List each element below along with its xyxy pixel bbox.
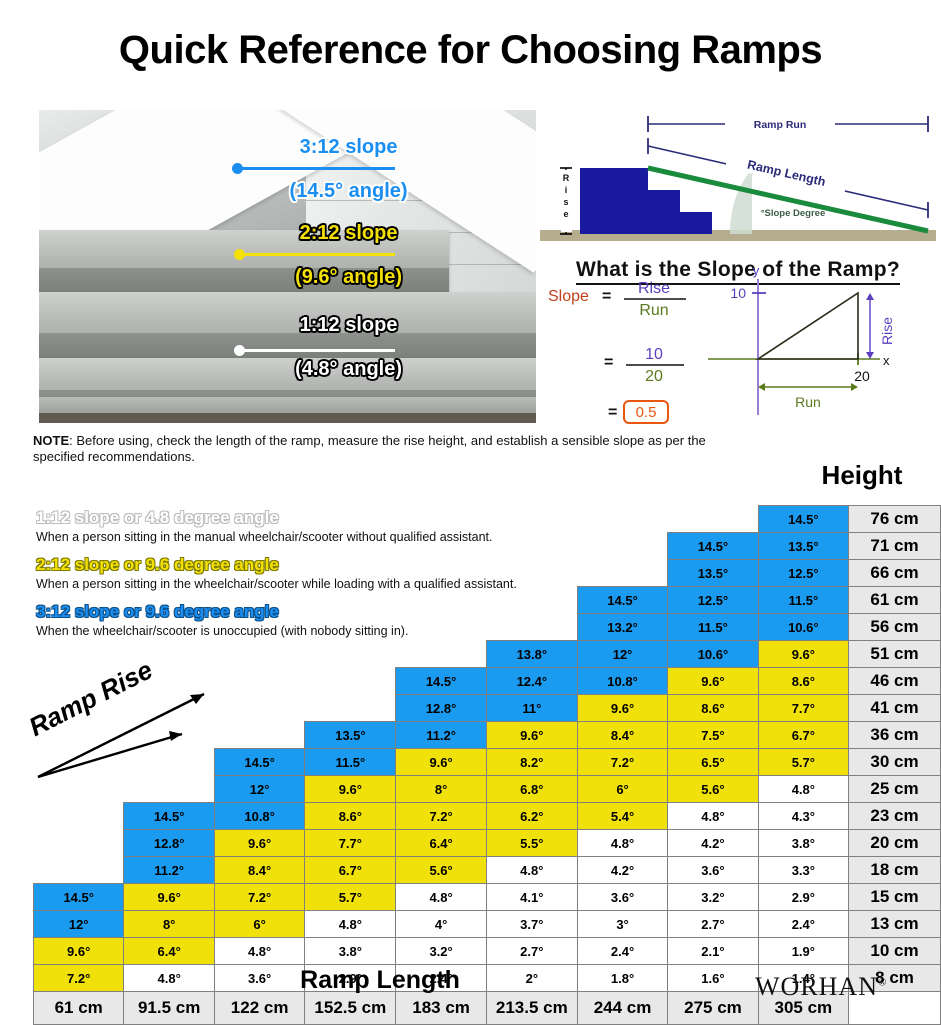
table-cell-angle[interactable]: 6.8° <box>486 776 577 803</box>
overlay-2-12-line2: (9.6° angle) <box>295 266 402 288</box>
height-axis-label: Height <box>807 460 917 491</box>
slope-word: Slope <box>548 288 589 305</box>
table-cell-angle[interactable]: 6° <box>577 776 667 803</box>
graph-x-tick-label: 20 <box>854 368 870 384</box>
table-row-height: 56 cm <box>849 614 941 641</box>
table-cell-empty <box>34 857 124 884</box>
table-cell-angle[interactable]: 10.6° <box>758 614 848 641</box>
table-cell-angle[interactable]: 11.5° <box>668 614 758 641</box>
table-row: 9.6°6.4°4.8°3.8°3.2°2.7°2.4°2.1°1.9°10 c… <box>34 938 941 965</box>
table-cell-angle[interactable]: 5.7° <box>305 884 396 911</box>
slope-equals-3: = <box>608 404 617 421</box>
ramp-diagram: Ramp Run Ramp Length °Slope Degree R i s… <box>540 112 936 242</box>
legend-desc-3-12: When the wheelchair/scooter is unoccupie… <box>36 623 636 639</box>
slope-formula-diagram: Slope = Rise Run = 10 20 = 0.5 y x 10 20… <box>540 255 936 430</box>
table-cell-angle[interactable]: 10.8° <box>577 668 667 695</box>
graph-rise-label: Rise <box>879 317 895 345</box>
table-cell-angle[interactable]: 7.7° <box>758 695 848 722</box>
worhan-name: WORHAN <box>755 972 878 1001</box>
worhan-logo: WORHAN® <box>755 972 887 1002</box>
table-cell-angle[interactable]: 12.5° <box>668 587 758 614</box>
worhan-registered-mark: ® <box>878 976 887 988</box>
table-cell-angle[interactable]: 11.2° <box>124 857 215 884</box>
overlay-2-12-line1: 2:12 slope <box>300 222 398 244</box>
table-cell-angle[interactable]: 11.5° <box>305 749 396 776</box>
table-row-height: 15 cm <box>849 884 941 911</box>
table-cell-angle[interactable]: 3.6° <box>577 884 667 911</box>
note-text: NOTE: Before using, check the length of … <box>33 433 723 465</box>
table-cell-angle[interactable]: 9.6° <box>34 938 124 965</box>
table-column-length: 275 cm <box>668 992 758 1025</box>
graph-y-axis-label: y <box>753 263 760 278</box>
table-row-height: 76 cm <box>849 506 941 533</box>
table-cell-angle[interactable]: 8.4° <box>577 722 667 749</box>
table-column-length: 213.5 cm <box>486 992 577 1025</box>
table-cell-angle[interactable]: 7.2° <box>577 749 667 776</box>
table-row-height: 10 cm <box>849 938 941 965</box>
ramp-length-label: Ramp Length <box>746 157 827 189</box>
overlay-slope-2-12: 2:12 slope (9.6° angle) <box>218 200 468 288</box>
table-cell-angle[interactable]: 14.5° <box>34 884 124 911</box>
table-cell-angle[interactable]: 8° <box>124 911 215 938</box>
graph-y-tick-label: 10 <box>730 285 746 301</box>
table-cell-angle[interactable]: 8° <box>396 776 486 803</box>
table-cell-angle[interactable]: 1.9° <box>758 938 848 965</box>
rise-label-letter-r: R <box>563 173 570 183</box>
table-cell-angle[interactable]: 4.8° <box>396 884 486 911</box>
table-cell-angle[interactable]: 7.7° <box>305 830 396 857</box>
table-cell-angle[interactable]: 4° <box>396 911 486 938</box>
table-cell-angle[interactable]: 5.5° <box>486 830 577 857</box>
ramp-length-axis-label: Ramp Length <box>0 966 760 995</box>
table-cell-angle[interactable]: 4.8° <box>486 857 577 884</box>
table-row-height: 71 cm <box>849 533 941 560</box>
table-cell-angle[interactable]: 7.2° <box>214 884 304 911</box>
slope-result-value: 0.5 <box>636 404 657 421</box>
table-row-height: 36 cm <box>849 722 941 749</box>
table-cell-angle[interactable]: 11.5° <box>758 587 848 614</box>
table-cell-angle[interactable]: 3.2° <box>668 884 758 911</box>
table-cell-angle[interactable]: 6.5° <box>668 749 758 776</box>
table-cell-angle[interactable]: 2.7° <box>486 938 577 965</box>
table-cell-angle[interactable]: 8.6° <box>305 803 396 830</box>
table-cell-angle[interactable]: 14.5° <box>124 803 215 830</box>
table-cell-angle[interactable]: 14.5° <box>668 533 758 560</box>
table-cell-angle[interactable]: 9.6° <box>214 830 304 857</box>
table-cell-angle[interactable]: 14.5° <box>758 506 848 533</box>
table-cell-angle[interactable]: 3.8° <box>305 938 396 965</box>
table-cell-angle[interactable]: 2.9° <box>758 884 848 911</box>
table-cell-angle[interactable]: 10.8° <box>214 803 304 830</box>
photo-dirt <box>39 413 536 423</box>
table-cell-angle[interactable]: 7.2° <box>396 803 486 830</box>
overlay-1-12-rule <box>242 349 395 352</box>
table-cell-angle[interactable]: 14.5° <box>396 668 486 695</box>
graph-triangle <box>758 293 858 359</box>
table-cell-angle[interactable]: 11.2° <box>396 722 486 749</box>
table-cell-angle[interactable]: 2.1° <box>668 938 758 965</box>
table-column-length: 122 cm <box>214 992 304 1025</box>
table-cell-angle[interactable]: 8.4° <box>214 857 304 884</box>
table-row-height: 20 cm <box>849 830 941 857</box>
table-row-height: 61 cm <box>849 587 941 614</box>
table-row-height: 46 cm <box>849 668 941 695</box>
slope-equals-1: = <box>602 288 611 305</box>
table-cell-angle[interactable]: 9.6° <box>305 776 396 803</box>
legend-heading-1-12: 1:12 slope or 4.8 degree angle <box>36 507 636 529</box>
table-cell-angle[interactable]: 4.3° <box>758 803 848 830</box>
diagram-slope-arc <box>730 170 752 234</box>
table-row-height: 66 cm <box>849 560 941 587</box>
ramp-run-label: Ramp Run <box>754 119 807 131</box>
slope-equals-2: = <box>604 354 613 371</box>
table-column-length: 244 cm <box>577 992 667 1025</box>
table-cell-angle[interactable]: 5.6° <box>668 776 758 803</box>
rise-label-letter-i: i <box>565 185 568 195</box>
rise-label-letter-e: e <box>563 209 568 219</box>
overlay-slope-1-12: 1:12 slope (4.8° angle) <box>218 292 468 380</box>
note-body: : Before using, check the length of the … <box>33 433 706 464</box>
table-cell-angle[interactable]: 12.5° <box>758 560 848 587</box>
table-row: 14.5°10.8°8.6°7.2°6.2°5.4°4.8°4.3°23 cm <box>34 803 941 830</box>
table-cell-angle[interactable]: 5.6° <box>396 857 486 884</box>
table-cell-empty <box>305 668 396 695</box>
table-cell-angle[interactable]: 4.8° <box>668 803 758 830</box>
table-cell-angle[interactable]: 9.6° <box>577 695 667 722</box>
table-cell-angle[interactable]: 12.8° <box>396 695 486 722</box>
table-cell-angle[interactable]: 8.6° <box>758 668 848 695</box>
slope-degree-label: °Slope Degree <box>761 208 826 219</box>
table-column-length: 61 cm <box>34 992 124 1025</box>
table-cell-angle[interactable]: 7.5° <box>668 722 758 749</box>
table-cell-angle[interactable]: 5.7° <box>758 749 848 776</box>
graph-rise-arrowhead-top <box>866 293 874 300</box>
table-cell-angle[interactable]: 3.8° <box>758 830 848 857</box>
legend-desc-1-12: When a person sitting in the manual whee… <box>36 529 636 545</box>
table-cell-angle[interactable]: 3° <box>577 911 667 938</box>
overlay-slope-3-12: 3:12 slope (14.5° angle) <box>218 114 468 202</box>
table-cell-empty <box>34 803 124 830</box>
table-cell-angle[interactable]: 4.2° <box>577 857 667 884</box>
page-title: Quick Reference for Choosing Ramps <box>0 28 941 73</box>
graph-x-axis-label: x <box>883 353 890 368</box>
table-cell-angle[interactable]: 6.4° <box>396 830 486 857</box>
table-row-height: 23 cm <box>849 803 941 830</box>
table-row: 12.8°9.6°7.7°6.4°5.5°4.8°4.2°3.8°20 cm <box>34 830 941 857</box>
table-row-height: 25 cm <box>849 776 941 803</box>
formula-run-word: Run <box>639 302 668 319</box>
formula-denominator: 20 <box>645 368 663 385</box>
table-cell-empty <box>305 695 396 722</box>
ramp-rise-annotation: Ramp Rise <box>32 672 232 787</box>
table-cell-angle[interactable]: 4.8° <box>577 830 667 857</box>
table-row-height: 30 cm <box>849 749 941 776</box>
overlay-1-12-line2: (4.8° angle) <box>295 358 402 380</box>
table-row-height: 13 cm <box>849 911 941 938</box>
table-cell-angle[interactable]: 9.6° <box>396 749 486 776</box>
table-column-length: 91.5 cm <box>124 992 215 1025</box>
table-cell-angle[interactable]: 4.8° <box>305 911 396 938</box>
overlay-1-12-line1: 1:12 slope <box>300 314 398 336</box>
formula-rise-word: Rise <box>638 280 670 297</box>
table-cell-empty <box>668 506 758 533</box>
slope-legend: 1:12 slope or 4.8 degree angle When a pe… <box>36 505 636 648</box>
graph-rise-arrowhead-bottom <box>866 352 874 359</box>
table-cell-angle[interactable]: 6.4° <box>124 938 215 965</box>
table-cell-angle[interactable]: 3.2° <box>396 938 486 965</box>
table-cell-angle[interactable]: 2.4° <box>758 911 848 938</box>
table-cell-angle[interactable]: 4.2° <box>668 830 758 857</box>
overlay-3-12-rule <box>240 167 395 170</box>
table-cell-angle[interactable]: 9.6° <box>486 722 577 749</box>
table-row-height: 51 cm <box>849 641 941 668</box>
table-cell-angle[interactable]: 6.2° <box>486 803 577 830</box>
table-row-height: 18 cm <box>849 857 941 884</box>
table-cell-angle[interactable]: 6.7° <box>758 722 848 749</box>
overlay-3-12-line2: (14.5° angle) <box>290 180 408 202</box>
table-cell-angle[interactable]: 13.5° <box>668 560 758 587</box>
table-cell-angle[interactable]: 9.6° <box>758 641 848 668</box>
overlay-3-12-line1: 3:12 slope <box>300 136 398 158</box>
table-cell-angle[interactable]: 8.2° <box>486 749 577 776</box>
table-cell-angle[interactable]: 12° <box>34 911 124 938</box>
overlay-2-12-rule <box>242 253 395 256</box>
table-row: 14.5°9.6°7.2°5.7°4.8°4.1°3.6°3.2°2.9°15 … <box>34 884 941 911</box>
table-column-length: 152.5 cm <box>305 992 396 1025</box>
table-cell-angle[interactable]: 12.8° <box>124 830 215 857</box>
table-cell-angle[interactable]: 5.4° <box>577 803 667 830</box>
table-cell-angle[interactable]: 6° <box>214 911 304 938</box>
table-cell-angle[interactable]: 6.7° <box>305 857 396 884</box>
table-cell-angle[interactable]: 9.6° <box>668 668 758 695</box>
table-cell-angle[interactable]: 13.5° <box>758 533 848 560</box>
table-cell-angle[interactable]: 2.7° <box>668 911 758 938</box>
table-cell-angle[interactable]: 3.7° <box>486 911 577 938</box>
graph-run-arrowhead-right <box>851 383 858 391</box>
formula-numerator: 10 <box>645 346 663 363</box>
ramp-rise-arrowhead-lower <box>169 731 182 741</box>
table-row: 11.2°8.4°6.7°5.6°4.8°4.2°3.6°3.3°18 cm <box>34 857 941 884</box>
table-cell-angle[interactable]: 2.4° <box>577 938 667 965</box>
legend-heading-3-12: 3:12 slope or 9.6 degree angle <box>36 601 636 623</box>
table-cell-angle[interactable]: 10.6° <box>668 641 758 668</box>
legend-heading-2-12: 2:12 slope or 9.6 degree angle <box>36 554 636 576</box>
rise-label-letter-s: s <box>563 197 568 207</box>
table-cell-angle[interactable]: 13.5° <box>305 722 396 749</box>
table-cell-angle[interactable]: 9.6° <box>124 884 215 911</box>
table-cell-angle[interactable]: 4.8° <box>214 938 304 965</box>
table-row: 12°8°6°4.8°4°3.7°3°2.7°2.4°13 cm <box>34 911 941 938</box>
table-cell-empty <box>34 830 124 857</box>
table-cell-angle[interactable]: 3.3° <box>758 857 848 884</box>
legend-desc-2-12: When a person sitting in the wheelchair/… <box>36 576 636 592</box>
table-column-length: 183 cm <box>396 992 486 1025</box>
table-cell-angle[interactable]: 4.1° <box>486 884 577 911</box>
table-cell-angle[interactable]: 4.8° <box>758 776 848 803</box>
table-cell-angle[interactable]: 8.6° <box>668 695 758 722</box>
table-cell-angle[interactable]: 12.4° <box>486 668 577 695</box>
table-cell-angle[interactable]: 3.6° <box>668 857 758 884</box>
note-label: NOTE <box>33 433 69 448</box>
graph-run-label: Run <box>795 394 821 410</box>
table-cell-angle[interactable]: 11° <box>486 695 577 722</box>
table-row-height: 41 cm <box>849 695 941 722</box>
graph-run-arrowhead-left <box>758 383 765 391</box>
